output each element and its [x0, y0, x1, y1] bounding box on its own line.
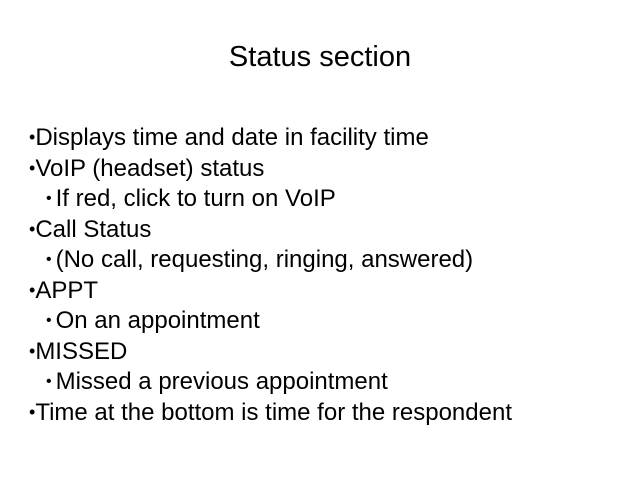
bullet-icon: •: [46, 312, 52, 329]
list-item-label: If red, click to turn on VoIP: [56, 185, 336, 212]
list-item: •On an appointment: [26, 306, 626, 336]
bullet-icon: •: [46, 190, 52, 207]
page-title: Status section: [0, 40, 640, 74]
list-item-label: MISSED: [35, 338, 127, 365]
list-item-label: Call Status: [35, 216, 151, 243]
bullet-list: •Displays time and date in facility time…: [26, 122, 626, 428]
list-item: •Call Status: [26, 214, 626, 245]
list-item: •MISSED: [26, 336, 626, 367]
list-item-label: Missed a previous appointment: [56, 368, 388, 395]
list-item-label: Time at the bottom is time for the respo…: [35, 399, 512, 426]
list-item-label: (No call, requesting, ringing, answered): [56, 246, 474, 273]
bullet-icon: •: [46, 373, 52, 390]
list-item: •Time at the bottom is time for the resp…: [26, 397, 626, 428]
slide-canvas: Status section •Displays time and date i…: [0, 0, 640, 480]
list-item: •If red, click to turn on VoIP: [26, 184, 626, 214]
list-item: •Displays time and date in facility time: [26, 122, 626, 153]
list-item-label: Displays time and date in facility time: [35, 124, 429, 151]
list-item: •Missed a previous appointment: [26, 367, 626, 397]
list-item-label: VoIP (headset) status: [35, 155, 264, 182]
list-item: •VoIP (headset) status: [26, 153, 626, 184]
list-item-label: APPT: [35, 277, 98, 304]
list-item-label: On an appointment: [56, 307, 260, 334]
list-item: •(No call, requesting, ringing, answered…: [26, 245, 626, 275]
bullet-icon: •: [46, 251, 52, 268]
list-item: •APPT: [26, 275, 626, 306]
